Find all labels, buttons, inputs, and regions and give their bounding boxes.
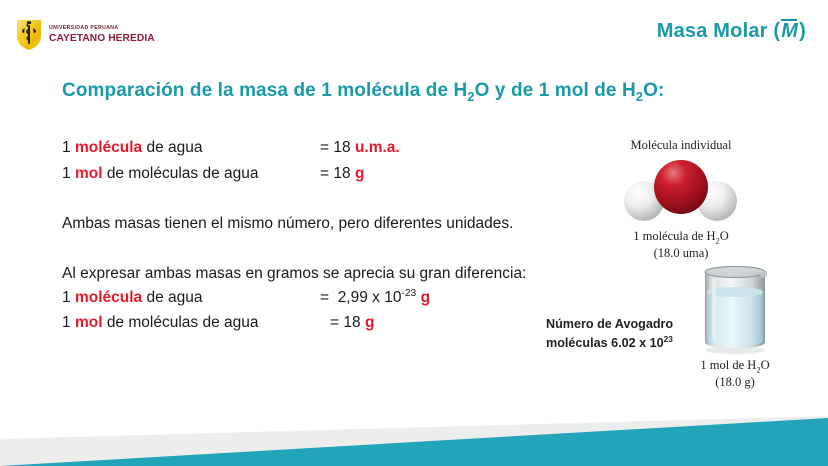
logo-text: UNIVERSIDAD PERUANA CAYETANO HEREDIA xyxy=(49,26,155,43)
figure-beaker-caption-line2: (18.0 g) xyxy=(660,375,810,390)
eq3-rest: de agua xyxy=(146,289,202,306)
fig-beaker-cap-b: O xyxy=(761,358,770,372)
fig-mol-cap-b: O xyxy=(720,229,729,243)
eq3-mantissa: 2,99 x 10 xyxy=(338,289,402,306)
eq2-term: mol xyxy=(75,165,103,182)
fig-mol-cap-a: 1 molécula de H xyxy=(633,229,715,243)
water-molecule-icon xyxy=(616,157,746,223)
eq4-num: 1 xyxy=(62,314,71,331)
paragraph-gran-diferencia: Al expresar ambas masas en gramos se apr… xyxy=(62,262,532,286)
equation-1-right: = 18 u.m.a. xyxy=(320,140,532,156)
eq1-term: molécula xyxy=(75,139,142,156)
eq4-rest: de moléculas de agua xyxy=(107,314,259,331)
eq1-num: 1 xyxy=(62,139,71,156)
equation-group-gramos: 1 molécula de agua = 2,99 x 10-23 g 1 mo… xyxy=(62,289,532,341)
eq2-value: 18 xyxy=(333,165,350,182)
equation-row-mol-gramos: 1 mol de moléculas de agua = 18 g xyxy=(62,166,532,192)
equation-row-mol-gramos-2: 1 mol de moléculas de agua = 18 g xyxy=(62,315,532,341)
header-title-suffix: ) xyxy=(799,20,806,42)
figure-one-mol-beaker: 1 mol de H2O (18.0 g) xyxy=(660,262,810,390)
equation-2-left: 1 mol de moléculas de agua xyxy=(62,166,320,182)
heading-part2: O y de 1 mol de H xyxy=(475,80,636,101)
equation-3-left: 1 molécula de agua xyxy=(62,290,320,306)
page-title: Comparación de la masa de 1 molécula de … xyxy=(62,80,664,104)
logo-line-cayetano: CAYETANO HEREDIA xyxy=(49,34,155,44)
equation-3-right: = 2,99 x 10-23 g xyxy=(320,289,532,306)
eq3-exponent: -23 xyxy=(401,288,416,299)
body-content: 1 molécula de agua = 18 u.m.a. 1 mol de … xyxy=(62,140,532,341)
eq2-rest: de moléculas de agua xyxy=(107,165,259,182)
heading-sub2: 2 xyxy=(636,89,643,104)
eq4-unit: g xyxy=(365,314,374,331)
eq1-equals: = xyxy=(320,139,329,156)
equation-2-right: = 18 g xyxy=(320,166,532,182)
shield-caduceus-icon xyxy=(16,19,42,51)
equation-1-left: 1 molécula de agua xyxy=(62,140,320,156)
eq3-equals: = xyxy=(320,289,329,306)
figure-single-molecule: Molécula individual xyxy=(540,138,822,261)
slide-canvas: UNIVERSIDAD PERUANA CAYETANO HEREDIA Mas… xyxy=(0,0,828,466)
figure-molecule-caption: 1 molécula de H2O (18.0 uma) xyxy=(540,229,822,261)
slide-header-title: Masa Molar (M) xyxy=(657,20,806,43)
eq1-rest: de agua xyxy=(146,139,202,156)
eq3-unit: g xyxy=(421,289,430,306)
equation-4-right: = 18 g xyxy=(330,315,532,331)
eq4-value: 18 xyxy=(343,314,360,331)
figure-molecule-title: Molécula individual xyxy=(540,138,822,153)
figure-beaker-caption: 1 mol de H2O (18.0 g) xyxy=(660,358,810,390)
beaker-water-icon xyxy=(697,262,773,354)
eq3-term: molécula xyxy=(75,289,142,306)
fig-beaker-cap-a: 1 mol de H xyxy=(700,358,756,372)
eq4-equals: = xyxy=(330,314,339,331)
eq2-equals: = xyxy=(320,165,329,182)
heading-sub1: 2 xyxy=(467,89,474,104)
eq2-num: 1 xyxy=(62,165,71,182)
eq3-num: 1 xyxy=(62,289,71,306)
university-logo: UNIVERSIDAD PERUANA CAYETANO HEREDIA xyxy=(16,18,176,52)
logo-line-universidad: UNIVERSIDAD PERUANA xyxy=(49,26,155,31)
header-title-prefix: Masa Molar ( xyxy=(657,20,781,42)
equation-row-molecula-gramos: 1 molécula de agua = 2,99 x 10-23 g xyxy=(62,289,532,315)
eq1-value: 18 xyxy=(333,139,350,156)
figure-molecule-caption-line2: (18.0 uma) xyxy=(540,246,822,261)
equation-4-left: 1 mol de moléculas de agua xyxy=(62,315,330,331)
eq4-term: mol xyxy=(75,314,103,331)
figure-beaker-caption-line1: 1 mol de H2O xyxy=(660,358,810,375)
figure-molecule-caption-line1: 1 molécula de H2O xyxy=(540,229,822,246)
eq2-unit: g xyxy=(355,165,364,182)
paragraph-mismo-numero: Ambas masas tienen el mismo número, pero… xyxy=(62,212,532,236)
avogadro-line2-text: moléculas 6.02 x 10 xyxy=(546,336,664,350)
eq1-unit: u.m.a. xyxy=(355,139,400,156)
heading-part1: Comparación de la masa de 1 molécula de … xyxy=(62,80,467,101)
molar-mass-symbol: M xyxy=(780,20,799,43)
equation-row-molecula-uma: 1 molécula de agua = 18 u.m.a. xyxy=(62,140,532,166)
heading-part3: O: xyxy=(643,80,664,101)
